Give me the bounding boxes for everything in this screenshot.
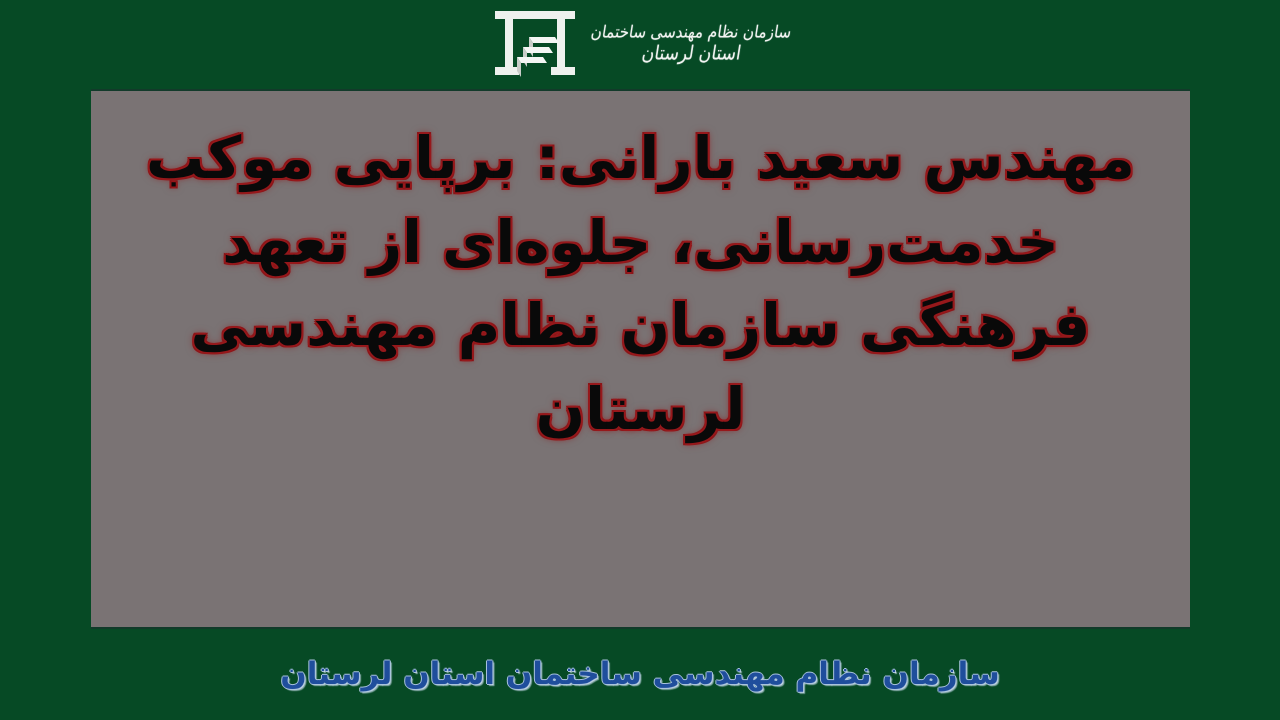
logo-calligraphy: سازمان نظام مهندسی ساختمان استان لرستان [591,2,791,88]
logo-calligraphy-line-1: سازمان نظام مهندسی ساختمان [590,24,793,41]
headline-line-3: فرهنگی سازمان نظام مهندسی [111,284,1171,368]
headline-line-4: لرستان [111,368,1171,452]
header-logo: سازمان نظام مهندسی ساختمان استان لرستان [0,0,1280,89]
footer-bar: سازمان نظام مهندسی ساختمان استان لرستان [0,629,1280,720]
content-panel: مهندس سعید بارانی: برپایی موکب خدمت‌رسان… [91,89,1190,629]
news-banner-poster: سازمان نظام مهندسی ساختمان استان لرستان … [0,0,1280,720]
headline-line-2: خدمت‌رسانی، جلوه‌ای از تعهد [111,201,1171,285]
headline: مهندس سعید بارانی: برپایی موکب خدمت‌رسان… [111,117,1171,451]
logo-calligraphy-line-2: استان لرستان [640,44,742,64]
headline-line-1: مهندس سعید بارانی: برپایی موکب [111,117,1171,201]
footer-organization-name: سازمان نظام مهندسی ساختمان استان لرستان [280,656,1000,693]
building-emblem-icon [489,7,581,83]
